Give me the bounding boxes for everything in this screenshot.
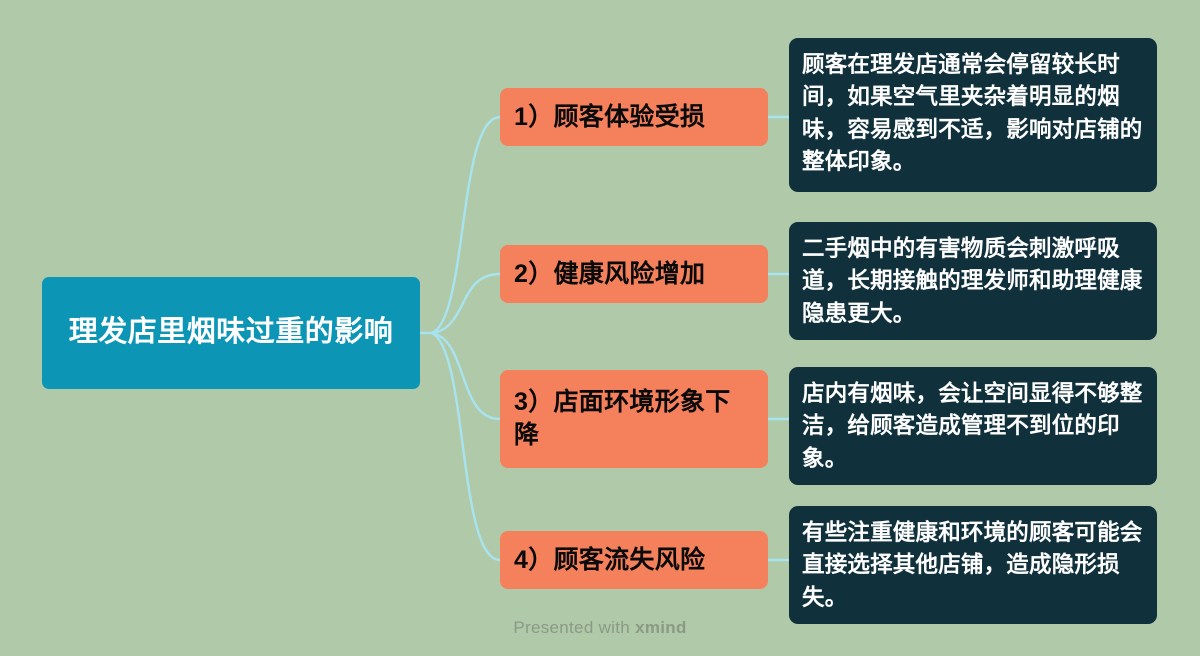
central-topic-node[interactable]: 理发店里烟味过重的影响 xyxy=(42,277,420,389)
branch-node-2-label: 2）健康风险增加 xyxy=(514,258,705,291)
connector-central-to-branch-3 xyxy=(432,333,500,419)
detail-node-4-text: 有些注重健康和环境的顾客可能会直接选择其他店铺，造成隐形损失。 xyxy=(802,517,1144,614)
branch-node-4[interactable]: 4）顾客流失风险 xyxy=(500,531,768,589)
connector-central-to-branch-4 xyxy=(432,333,500,560)
detail-node-3-text: 店内有烟味，会让空间显得不够整洁，给顾客造成管理不到位的印象。 xyxy=(802,378,1144,475)
detail-node-2[interactable]: 二手烟中的有害物质会刺激呼吸道，长期接触的理发师和助理健康隐患更大。 xyxy=(789,222,1157,340)
detail-node-1[interactable]: 顾客在理发店通常会停留较长时间，如果空气里夹杂着明显的烟味，容易感到不适，影响对… xyxy=(789,38,1157,192)
branch-node-2[interactable]: 2）健康风险增加 xyxy=(500,245,768,303)
branch-node-4-label: 4）顾客流失风险 xyxy=(514,544,705,577)
detail-node-4[interactable]: 有些注重健康和环境的顾客可能会直接选择其他店铺，造成隐形损失。 xyxy=(789,506,1157,624)
detail-node-3[interactable]: 店内有烟味，会让空间显得不够整洁，给顾客造成管理不到位的印象。 xyxy=(789,367,1157,485)
mindmap-canvas: 理发店里烟味过重的影响 1）顾客体验受损 2）健康风险增加 3）店面环境形象下降… xyxy=(0,0,1200,656)
branch-node-1[interactable]: 1）顾客体验受损 xyxy=(500,88,768,146)
branch-node-3[interactable]: 3）店面环境形象下降 xyxy=(500,370,768,468)
branch-node-3-label: 3）店面环境形象下降 xyxy=(514,386,754,452)
branch-node-1-label: 1）顾客体验受损 xyxy=(514,101,705,134)
connector-central-to-branch-1 xyxy=(432,117,500,333)
connector-central-to-branch-2 xyxy=(432,274,500,333)
watermark-brand: xmind xyxy=(635,618,687,637)
detail-node-2-text: 二手烟中的有害物质会刺激呼吸道，长期接触的理发师和助理健康隐患更大。 xyxy=(802,233,1144,330)
central-topic-label: 理发店里烟味过重的影响 xyxy=(69,314,394,352)
watermark-prefix: Presented with xyxy=(513,618,635,637)
detail-node-1-text: 顾客在理发店通常会停留较长时间，如果空气里夹杂着明显的烟味，容易感到不适，影响对… xyxy=(802,49,1144,179)
